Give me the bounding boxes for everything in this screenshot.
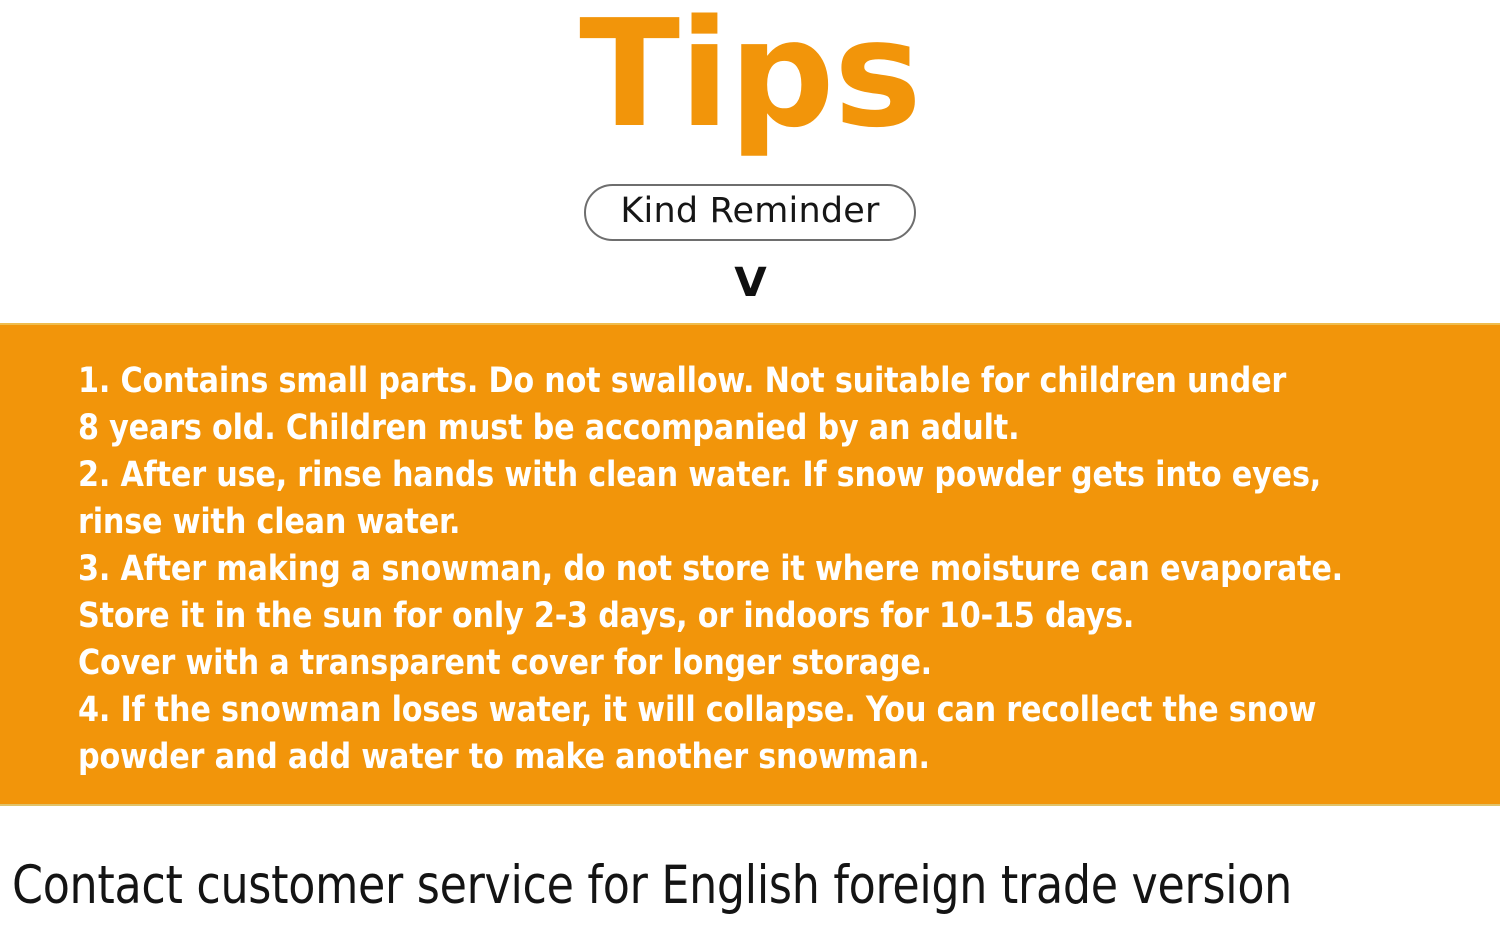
footer-text: Contact customer service for English for…: [12, 855, 1396, 917]
tip-text-line: 8 years old. Children must be accompanie…: [78, 405, 1443, 452]
tip-text-line: Cover with a transparent cover for longe…: [78, 640, 1443, 687]
page-title: Tips: [579, 0, 921, 149]
chevron-down-icon: V: [734, 262, 767, 304]
kind-reminder-label: Kind Reminder: [620, 191, 879, 231]
title-block: Tips: [0, 0, 1500, 160]
tip-text-line: Store it in the sun for only 2-3 days, o…: [78, 593, 1443, 640]
tip-text-line: rinse with clean water.: [78, 499, 1443, 546]
tip-text-line: 2. After use, rinse hands with clean wat…: [78, 452, 1443, 499]
tips-panel-content: 1. Contains small parts. Do not swallow.…: [0, 325, 1500, 781]
footer: Contact customer service for English for…: [12, 855, 1500, 917]
tip-text-line: 1. Contains small parts. Do not swallow.…: [78, 358, 1443, 405]
chevron-row: V: [0, 262, 1500, 304]
tips-panel: 1. Contains small parts. Do not swallow.…: [0, 323, 1500, 806]
badge-row: Kind Reminder: [0, 184, 1500, 241]
tip-text-line: 3. After making a snowman, do not store …: [78, 546, 1443, 593]
tips-page: Tips Kind Reminder V 1. Contains small p…: [0, 0, 1500, 929]
tip-text-line: powder and add water to make another sno…: [78, 734, 1443, 781]
tip-text-line: 4. If the snowman loses water, it will c…: [78, 687, 1443, 734]
kind-reminder-badge: Kind Reminder: [584, 184, 915, 241]
